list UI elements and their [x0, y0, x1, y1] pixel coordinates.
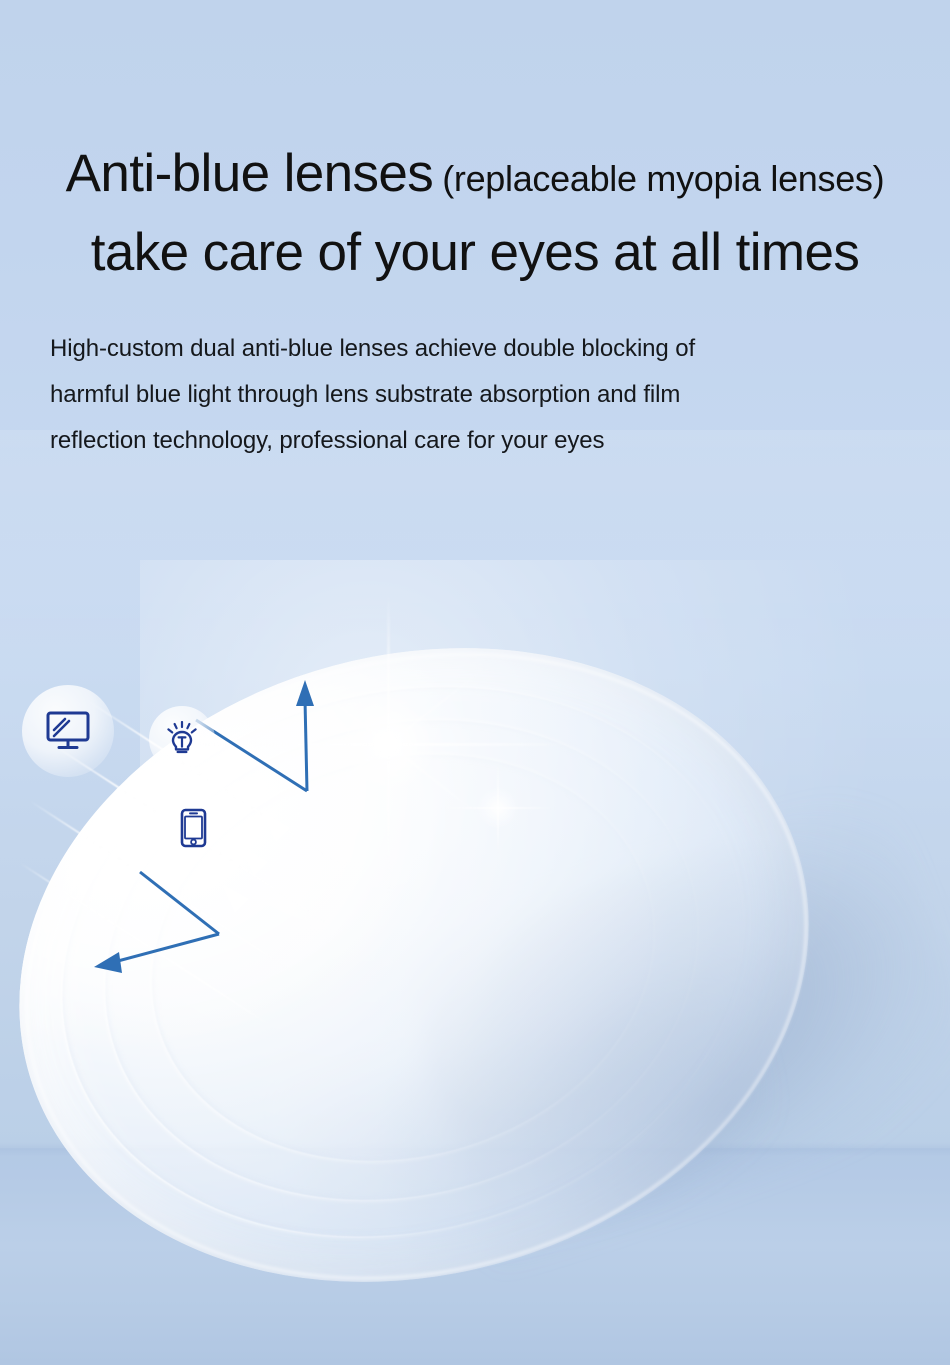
body-copy: High-custom dual anti-blue lenses achiev…	[50, 326, 900, 464]
monitor-icon	[45, 710, 91, 752]
body-copy-line-3: reflection technology, professional care…	[50, 418, 900, 464]
icon-bubble-monitor[interactable]	[22, 685, 114, 777]
icon-bubble-lightbulb[interactable]	[149, 706, 215, 772]
headline-parenthetical-text: (replaceable myopia lenses)	[442, 158, 884, 199]
headline-line-2: take care of your eyes at all times	[0, 222, 950, 283]
headline-line-1: Anti-blue lenses(replaceable myopia lens…	[0, 143, 950, 204]
body-copy-line-2: harmful blue light through lens substrat…	[50, 372, 900, 418]
background-floor	[0, 1148, 950, 1365]
headline-main-text: Anti-blue lenses	[66, 144, 434, 203]
background-horizon-line	[0, 1142, 950, 1156]
icon-bubble-smartphone[interactable]	[157, 792, 229, 864]
lightbulb-icon	[165, 721, 199, 757]
smartphone-icon	[180, 808, 207, 848]
body-copy-line-1: High-custom dual anti-blue lenses achiev…	[50, 326, 900, 372]
anti-blue-lens-banner: Anti-blue lenses(replaceable myopia lens…	[0, 0, 950, 1365]
